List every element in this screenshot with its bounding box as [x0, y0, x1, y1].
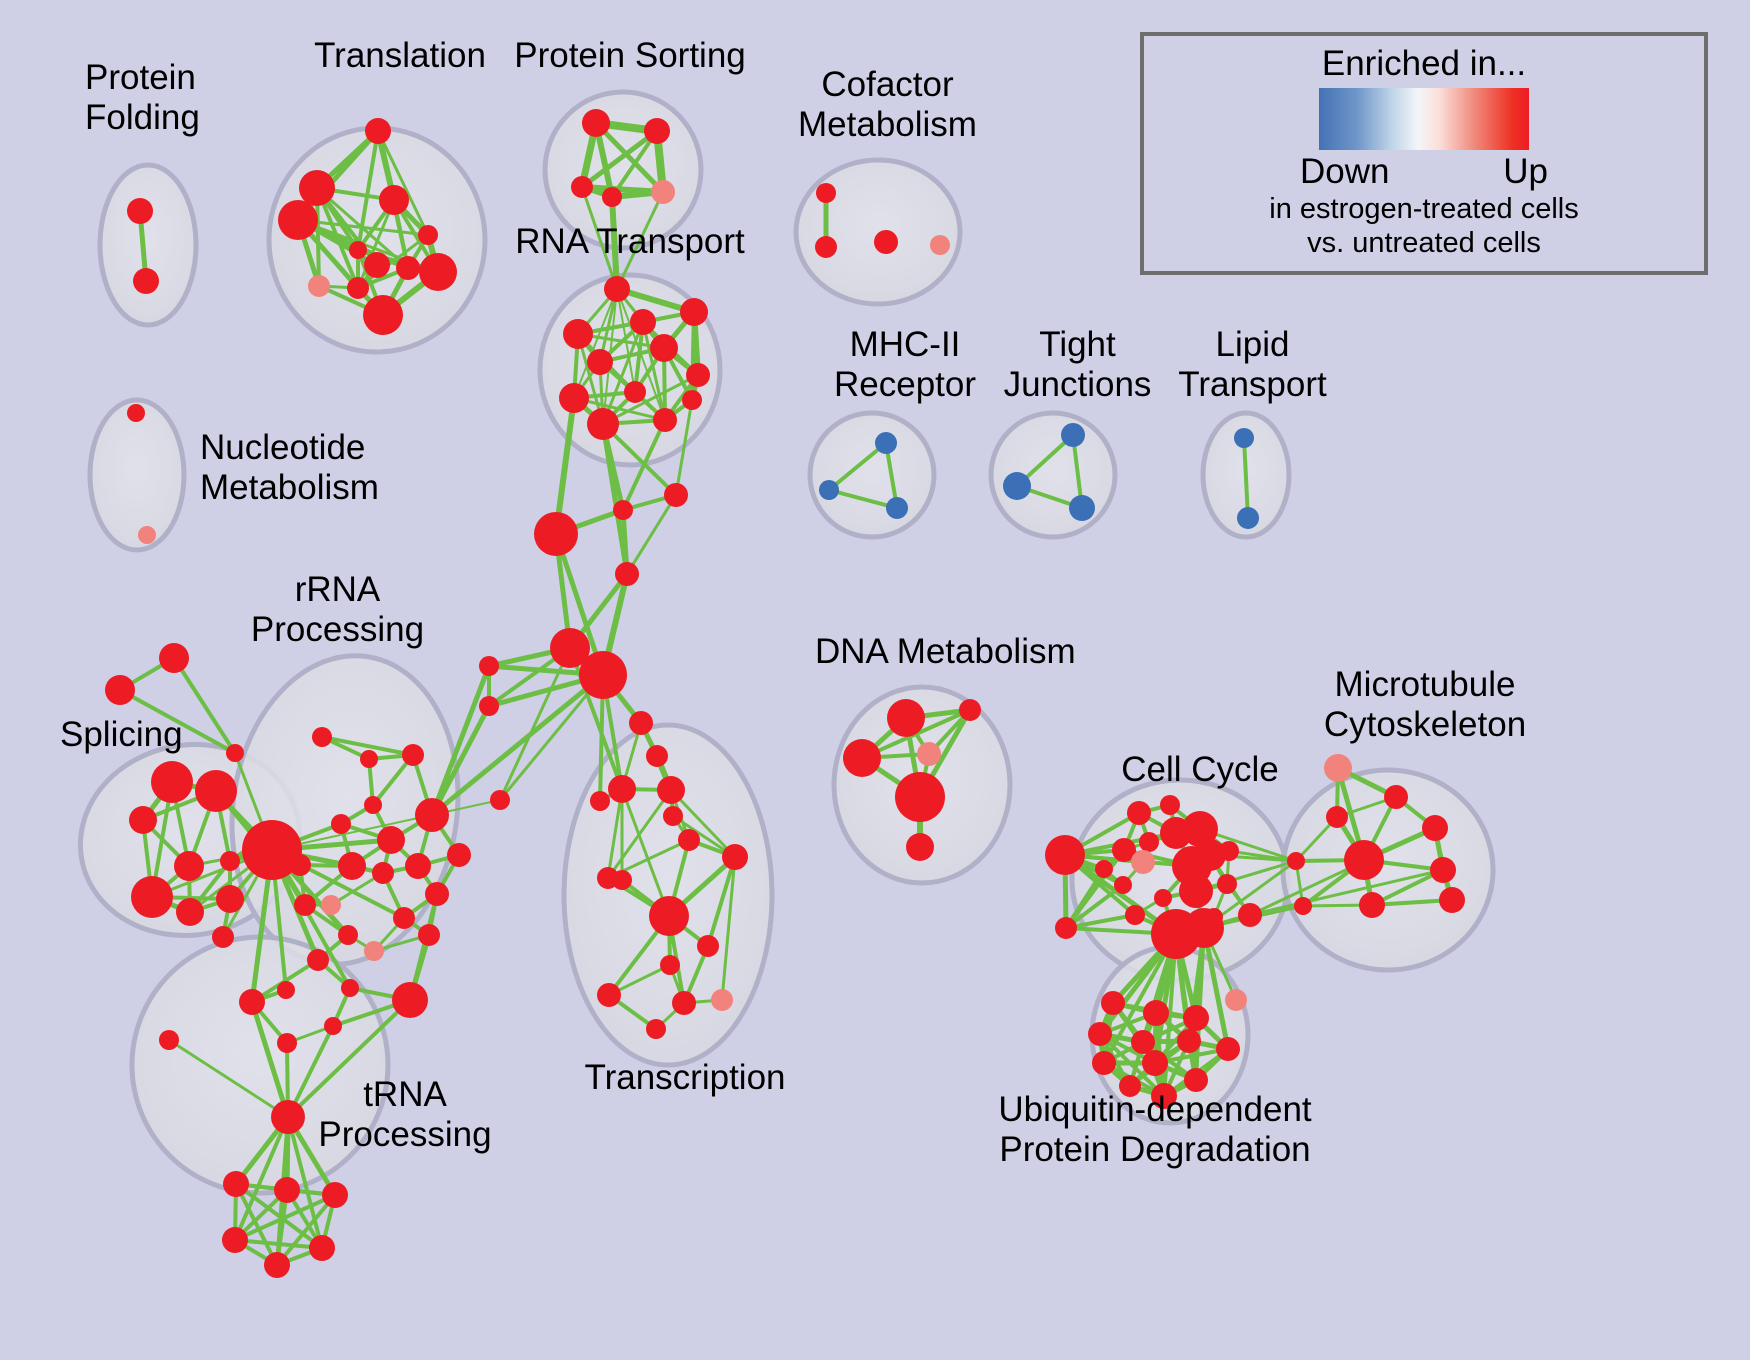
network-node[interactable] [608, 775, 636, 803]
network-node[interactable] [324, 1017, 342, 1035]
network-node[interactable] [308, 275, 330, 297]
network-node[interactable] [711, 989, 733, 1011]
network-node[interactable] [1439, 887, 1465, 913]
network-node[interactable] [278, 200, 318, 240]
network-node[interactable] [682, 390, 702, 410]
network-node[interactable] [1127, 801, 1151, 825]
network-node[interactable] [664, 483, 688, 507]
network-node[interactable] [1101, 991, 1125, 1015]
legend-high-label: Up [1503, 152, 1548, 192]
network-node[interactable] [277, 981, 295, 999]
network-node[interactable] [393, 907, 415, 929]
network-node[interactable] [651, 180, 675, 204]
network-node[interactable] [392, 982, 428, 1018]
network-node[interactable] [534, 512, 578, 556]
network-node[interactable] [418, 924, 440, 946]
network-node[interactable] [223, 1171, 249, 1197]
network-node[interactable] [649, 896, 689, 936]
network-node[interactable] [1359, 892, 1385, 918]
network-node[interactable] [1055, 917, 1077, 939]
network-node[interactable] [360, 750, 378, 768]
network-node[interactable] [364, 941, 384, 961]
network-node[interactable] [271, 1100, 305, 1134]
network-node[interactable] [680, 298, 708, 326]
network-node[interactable] [1142, 1050, 1168, 1076]
network-node[interactable] [174, 851, 204, 881]
network-node[interactable] [129, 806, 157, 834]
network-node[interactable] [630, 309, 656, 335]
network-node[interactable] [159, 1030, 179, 1050]
network-node[interactable] [1179, 874, 1213, 908]
legend-subtitle-line-2: vs. untreated cells [1307, 226, 1541, 260]
network-node[interactable] [559, 383, 589, 413]
network-node[interactable] [338, 925, 358, 945]
network-node[interactable] [1139, 832, 1159, 852]
network-node[interactable] [379, 185, 409, 215]
network-node[interactable] [151, 761, 193, 803]
cluster-ellipse-cofactor-metabolism [796, 160, 960, 304]
network-node[interactable] [274, 1177, 300, 1203]
network-node[interactable] [372, 862, 394, 884]
network-node[interactable] [722, 844, 748, 870]
legend-subtitle-line-1: in estrogen-treated cells [1269, 192, 1579, 226]
network-node[interactable] [1119, 1075, 1141, 1097]
network-node[interactable] [930, 235, 950, 255]
network-node[interactable] [347, 277, 369, 299]
network-node[interactable] [1151, 1083, 1177, 1109]
network-node[interactable] [1326, 806, 1348, 828]
network-node[interactable] [239, 989, 265, 1015]
network-node[interactable] [1045, 835, 1085, 875]
network-node[interactable] [1095, 860, 1113, 878]
network-node[interactable] [490, 790, 510, 810]
network-node[interactable] [1205, 908, 1223, 926]
network-node[interactable] [338, 852, 366, 880]
network-node[interactable] [895, 772, 945, 822]
network-node[interactable] [875, 432, 897, 454]
network-node[interactable] [127, 404, 145, 422]
network-node[interactable] [479, 656, 499, 676]
network-node[interactable] [349, 241, 367, 259]
network-node[interactable] [216, 885, 244, 913]
network-node[interactable] [415, 798, 449, 832]
legend-title: Enriched in... [1322, 44, 1526, 84]
network-node[interactable] [341, 979, 359, 997]
network-node[interactable] [597, 983, 621, 1007]
network-node[interactable] [1344, 840, 1384, 880]
cluster-ellipse-protein-sorting [545, 92, 701, 248]
network-node[interactable] [138, 526, 156, 544]
network-node[interactable] [1238, 903, 1262, 927]
network-node[interactable] [886, 497, 908, 519]
network-node[interactable] [1131, 850, 1155, 874]
network-node[interactable] [1003, 472, 1031, 500]
network-node[interactable] [1069, 495, 1095, 521]
network-node[interactable] [959, 699, 981, 721]
network-node[interactable] [105, 675, 135, 705]
legend-low-label: Down [1300, 152, 1389, 192]
network-node[interactable] [479, 696, 499, 716]
network-node[interactable] [294, 894, 316, 916]
network-node[interactable] [396, 256, 420, 280]
network-node[interactable] [646, 1019, 666, 1039]
network-node[interactable] [322, 1182, 348, 1208]
network-node[interactable] [1384, 785, 1408, 809]
network-node[interactable] [131, 876, 173, 918]
network-node[interactable] [1225, 989, 1247, 1011]
cluster-ellipse-protein-folding [100, 165, 196, 325]
network-node[interactable] [1177, 1029, 1201, 1053]
cluster-ellipse-nucleotide-metabolism [90, 400, 184, 550]
network-node[interactable] [571, 176, 593, 198]
network-node[interactable] [418, 225, 438, 245]
network-node[interactable] [663, 806, 683, 826]
network-node[interactable] [602, 187, 622, 207]
network-node[interactable] [613, 500, 633, 520]
network-node[interactable] [874, 230, 898, 254]
network-node[interactable] [657, 776, 685, 804]
network-node[interactable] [672, 991, 696, 1015]
network-node[interactable] [195, 770, 237, 812]
network-node[interactable] [1294, 897, 1312, 915]
network-node[interactable] [1430, 857, 1456, 883]
network-node[interactable] [222, 1227, 248, 1253]
network-node[interactable] [579, 651, 627, 699]
network-node[interactable] [650, 334, 678, 362]
network-node[interactable] [1143, 1000, 1169, 1026]
legend-endpoint-labels: Down Up [1300, 152, 1548, 192]
network-node[interactable] [1131, 1030, 1155, 1054]
network-node[interactable] [159, 643, 189, 673]
network-node[interactable] [212, 926, 234, 948]
network-node[interactable] [226, 744, 244, 762]
network-node[interactable] [653, 408, 677, 432]
network-node[interactable] [678, 829, 700, 851]
network-node[interactable] [1237, 507, 1259, 529]
network-node[interactable] [1234, 428, 1254, 448]
network-node[interactable] [364, 796, 382, 814]
network-node[interactable] [563, 319, 593, 349]
network-node[interactable] [1061, 423, 1085, 447]
network-node[interactable] [1324, 754, 1352, 782]
network-node[interactable] [1154, 889, 1172, 907]
network-node[interactable] [242, 820, 302, 880]
network-node[interactable] [365, 118, 391, 144]
network-node[interactable] [331, 814, 351, 834]
network-node[interactable] [917, 742, 941, 766]
network-node[interactable] [127, 198, 153, 224]
network-node[interactable] [624, 381, 646, 403]
network-node[interactable] [644, 118, 670, 144]
network-node[interactable] [364, 252, 390, 278]
network-node[interactable] [377, 826, 405, 854]
cluster-ellipse-mhc-ii-receptor [810, 413, 934, 537]
network-node[interactable] [587, 408, 619, 440]
network-node[interactable] [1422, 815, 1448, 841]
network-node[interactable] [363, 295, 403, 335]
network-node[interactable] [309, 1235, 335, 1261]
network-node[interactable] [1216, 1037, 1240, 1061]
network-node[interactable] [906, 833, 934, 861]
network-node[interactable] [1287, 852, 1305, 870]
network-node[interactable] [1183, 1005, 1209, 1031]
network-node[interactable] [590, 791, 610, 811]
network-node[interactable] [816, 183, 836, 203]
network-figure: Protein FoldingTranslationProtein Sortin… [0, 0, 1750, 1360]
network-node[interactable] [277, 1033, 297, 1053]
network-node[interactable] [1114, 876, 1132, 894]
network-node[interactable] [843, 739, 881, 777]
network-node[interactable] [307, 949, 329, 971]
network-node[interactable] [264, 1252, 290, 1278]
legend-color-gradient-bar [1319, 88, 1529, 150]
network-node[interactable] [425, 882, 449, 906]
network-node[interactable] [1217, 874, 1237, 894]
network-node[interactable] [1219, 841, 1239, 861]
network-node[interactable] [587, 349, 613, 375]
network-node[interactable] [133, 268, 159, 294]
network-node[interactable] [615, 562, 639, 586]
network-node[interactable] [1088, 1022, 1112, 1046]
legend: Enriched in... Down Up in estrogen-treat… [1140, 32, 1708, 275]
network-node[interactable] [405, 853, 431, 879]
network-node[interactable] [582, 109, 610, 137]
network-node[interactable] [697, 935, 719, 957]
network-node[interactable] [1125, 905, 1145, 925]
network-node[interactable] [612, 870, 632, 890]
network-node[interactable] [815, 236, 837, 258]
network-node[interactable] [312, 727, 332, 747]
network-node[interactable] [660, 955, 680, 975]
network-node[interactable] [887, 699, 925, 737]
network-node[interactable] [1160, 795, 1180, 815]
network-node[interactable] [686, 363, 710, 387]
network-node[interactable] [419, 253, 457, 291]
network-node[interactable] [604, 276, 630, 302]
network-node[interactable] [176, 898, 204, 926]
network-node[interactable] [402, 744, 424, 766]
network-node[interactable] [629, 711, 653, 735]
network-node[interactable] [220, 851, 240, 871]
network-node[interactable] [447, 843, 471, 867]
network-node[interactable] [819, 480, 839, 500]
network-node[interactable] [1092, 1051, 1116, 1075]
network-node[interactable] [1184, 1068, 1208, 1092]
network-node[interactable] [321, 895, 341, 915]
network-node[interactable] [646, 745, 668, 767]
network-node[interactable] [299, 170, 335, 206]
